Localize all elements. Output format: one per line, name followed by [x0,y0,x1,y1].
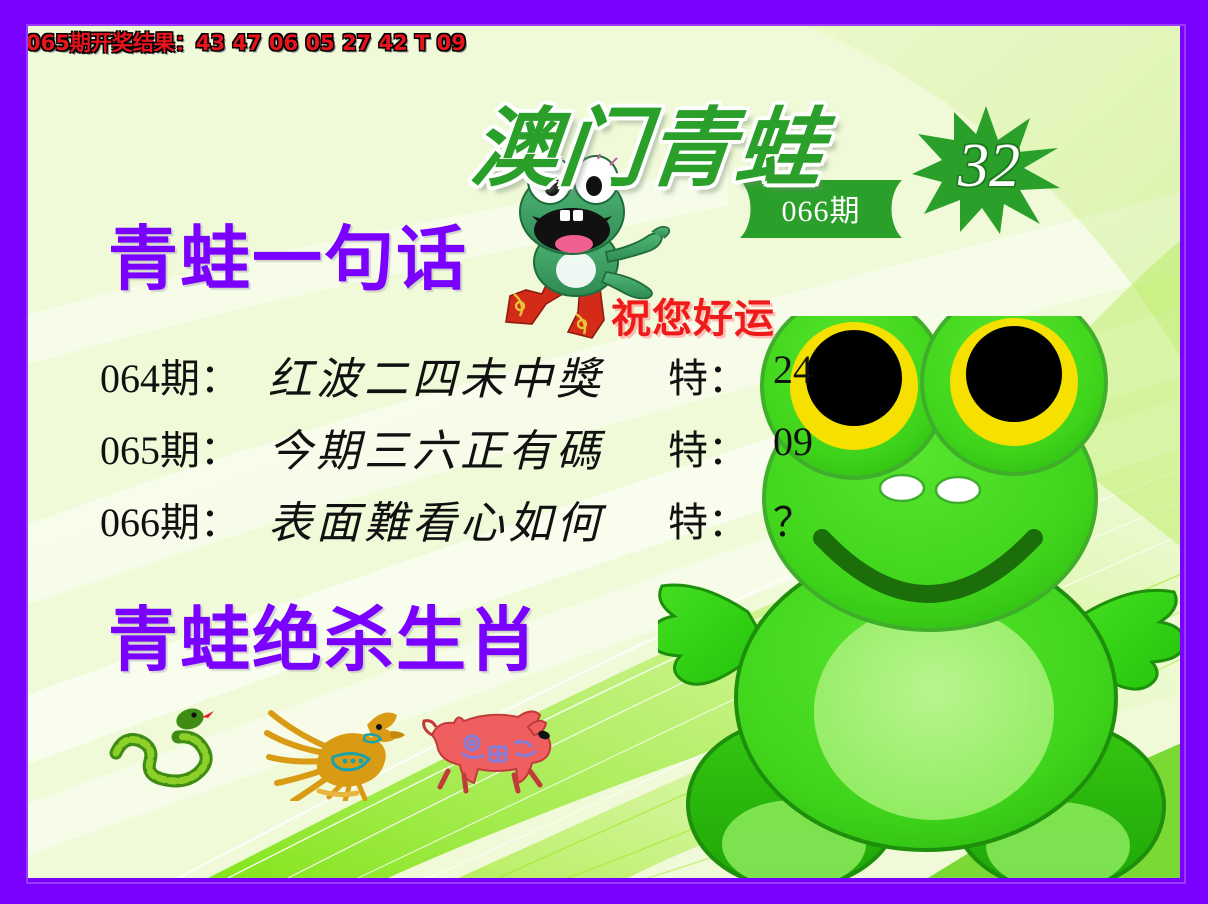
row-phrase: 红波二四未中獎 [268,343,604,407]
row-issue: 064期： [100,346,240,404]
poster-canvas: 065期开奖结果：43 47 06 05 27 42 T 09 澳门青蛙 32 … [28,26,1180,878]
poster-root: 065期开奖结果：43 47 06 05 27 42 T 09 澳门青蛙 32 … [0,0,1208,904]
prediction-rows: 064期： 红波二四未中獎 特： 24 065期： 今期三六正有碼 特： 09 … [28,346,1180,562]
row-special-value: 24 [758,346,828,393]
table-row: 066期： 表面難看心如何 特： ？ [28,490,1180,562]
row-special-label: 特： [668,346,748,404]
table-row: 064期： 红波二四未中獎 特： 24 [28,346,1180,418]
row-special-value: ？ [758,490,828,548]
row-phrase: 表面難看心如何 [268,487,604,551]
row-special-label: 特： [668,490,748,548]
starburst-number: 32 [912,104,1060,236]
zodiac-pig-icon [418,691,578,801]
lottery-result-text: 065期开奖结果：43 47 06 05 27 42 T 09 [28,27,466,57]
zodiac-snake-icon [108,691,268,801]
page-title: 澳门青蛙 [466,78,831,203]
row-issue: 066期： [100,490,240,548]
row-special-label: 特： [668,418,748,476]
row-issue: 065期： [100,418,240,476]
zodiac-strip [108,691,588,801]
header-bar: 065期开奖结果：43 47 06 05 27 42 T 09 [28,26,1180,60]
heading-kill-zodiac: 青蛙绝杀生肖 [108,584,540,685]
heading-one-line: 青蛙一句话 [108,203,468,304]
row-phrase: 今期三六正有碼 [268,415,604,479]
starburst-badge: 32 [912,104,1060,236]
row-special-value: 09 [758,418,828,465]
zodiac-rooster-icon [263,691,423,801]
table-row: 065期： 今期三六正有碼 特： 09 [28,418,1180,490]
